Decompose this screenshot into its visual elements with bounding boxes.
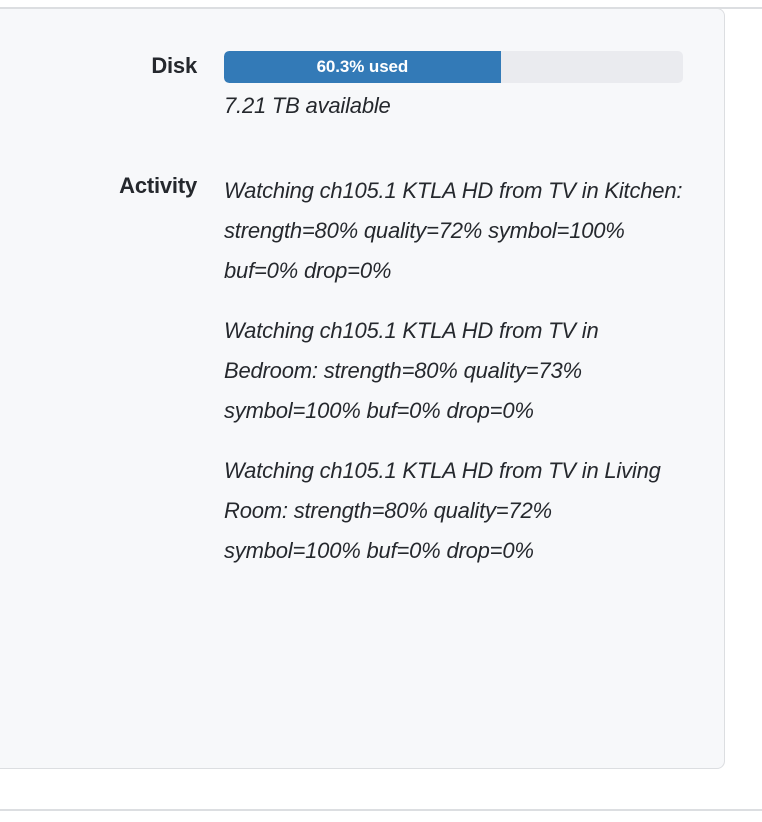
activity-item: Watching ch105.1 KTLA HD from TV in Kitc…: [224, 171, 694, 291]
activity-list: Watching ch105.1 KTLA HD from TV in Kitc…: [224, 171, 684, 571]
status-card: Disk 60.3% used 7.21 TB available Activi…: [0, 8, 725, 769]
disk-usage-label: 60.3% used: [317, 57, 409, 77]
disk-usage-progress-fill: 60.3% used: [224, 51, 501, 83]
disk-available-text: 7.21 TB available: [224, 92, 684, 120]
disk-value: 60.3% used 7.21 TB available: [224, 51, 684, 120]
activity-label: Activity: [1, 171, 197, 201]
bottom-divider: [0, 809, 762, 811]
disk-label: Disk: [1, 51, 197, 81]
activity-item: Watching ch105.1 KTLA HD from TV in Livi…: [224, 451, 694, 571]
activity-value: Watching ch105.1 KTLA HD from TV in Kitc…: [224, 171, 684, 571]
page-viewport: Disk 60.3% used 7.21 TB available Activi…: [0, 0, 762, 822]
disk-row: Disk 60.3% used 7.21 TB available: [1, 51, 684, 120]
activity-item: Watching ch105.1 KTLA HD from TV in Bedr…: [224, 311, 694, 431]
disk-usage-progressbar: 60.3% used: [224, 51, 683, 83]
activity-row: Activity Watching ch105.1 KTLA HD from T…: [1, 171, 684, 571]
status-rows: Disk 60.3% used 7.21 TB available Activi…: [0, 9, 724, 768]
